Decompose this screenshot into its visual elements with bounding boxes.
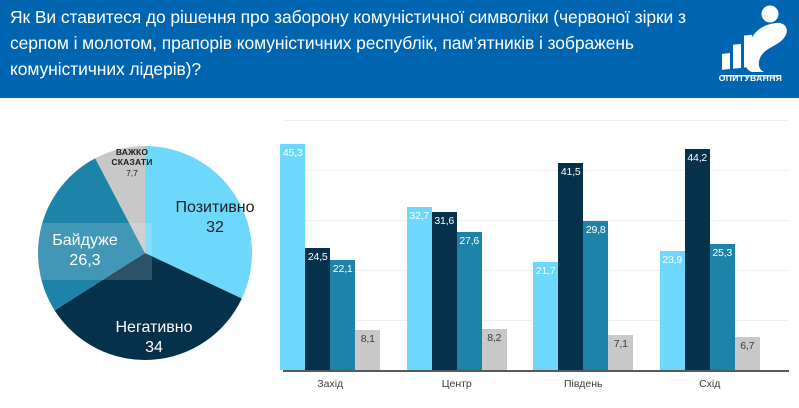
- pie-slice-name-hard-to-say: ВАЖКО СКАЗАТИ: [96, 148, 168, 168]
- bar: 6,7: [735, 337, 760, 371]
- bar: 21,7: [533, 262, 558, 371]
- bar: 7,1: [608, 335, 633, 371]
- bar: 31,6: [432, 212, 457, 370]
- bar-value-label: 8,1: [355, 333, 380, 345]
- bar: 44,2: [685, 149, 710, 370]
- page-header: Як Ви ставитеся до рішення про заборону …: [0, 0, 799, 98]
- bar-chart-axis: [283, 370, 789, 372]
- bar-group: 32,731,627,68,2: [407, 120, 507, 370]
- pie-slice-label-negative: Негативно 34: [90, 318, 218, 357]
- bar-value-label: 21,7: [533, 265, 558, 277]
- bar-group: 21,741,529,87,1: [533, 120, 633, 370]
- category-label: Південь: [523, 378, 643, 390]
- pie-slice-name-indifferent: Байдуже: [24, 231, 146, 251]
- category-label: Центр: [397, 378, 517, 390]
- bar-value-label: 22,1: [330, 263, 355, 275]
- pie-chart: Позитивно 32 Негативно 34 Байдуже 26,3 В…: [38, 113, 252, 395]
- bar-value-label: 29,8: [583, 224, 608, 236]
- pie-slice-value-positive: 32: [156, 218, 274, 238]
- bar: 23,9: [660, 251, 685, 371]
- bar: 22,1: [330, 260, 355, 371]
- bar-value-label: 6,7: [735, 340, 760, 352]
- pie-slice-label-hard-to-say: ВАЖКО СКАЗАТИ 7,7: [96, 148, 168, 178]
- bar-value-label: 44,2: [685, 152, 710, 164]
- bar: 8,1: [355, 330, 380, 371]
- category-label: Захід: [270, 378, 390, 390]
- bar: 24,5: [305, 248, 330, 371]
- bar-group: 45,324,522,18,1: [280, 120, 380, 370]
- bar: 27,6: [457, 232, 482, 370]
- bar-value-label: 32,7: [407, 210, 432, 222]
- bar-value-label: 45,3: [280, 147, 305, 159]
- pie-slice-label-indifferent: Байдуже 26,3: [18, 223, 152, 280]
- category-label: Схід: [650, 378, 770, 390]
- pie-slice-label-positive: Позитивно 32: [156, 198, 274, 237]
- bar: 32,7: [407, 207, 432, 371]
- bar: 25,3: [710, 244, 735, 371]
- pie-slice-name-negative: Негативно: [90, 318, 218, 338]
- bar-value-label: 7,1: [608, 338, 633, 350]
- page-title: Як Ви ставитеся до рішення про заборону …: [10, 4, 700, 82]
- bar-group: 23,944,225,36,7: [660, 120, 760, 370]
- bar: 29,8: [583, 221, 608, 370]
- pie-slice-value-negative: 34: [90, 338, 218, 358]
- pie-slice-value-indifferent: 26,3: [24, 251, 146, 271]
- bar-chart: Захід45,324,522,18,1Центр32,731,627,68,2…: [283, 120, 789, 398]
- bar-value-label: 25,3: [710, 247, 735, 259]
- bar-value-label: 23,9: [660, 254, 685, 266]
- bar: 45,3: [280, 144, 305, 371]
- bar: 8,2: [482, 329, 507, 370]
- runner-bars-logo-icon: [702, 0, 799, 98]
- bar: 41,5: [558, 163, 583, 371]
- brand-logo: ОПИТУВАННЯ: [702, 0, 799, 98]
- logo-caption: ОПИТУВАННЯ: [702, 73, 799, 83]
- pie-slice-name-positive: Позитивно: [156, 198, 274, 218]
- bar-value-label: 31,6: [432, 215, 457, 227]
- bar-value-label: 8,2: [482, 332, 507, 344]
- bar-value-label: 41,5: [558, 166, 583, 178]
- bar-value-label: 27,6: [457, 235, 482, 247]
- bar-value-label: 24,5: [305, 251, 330, 263]
- bar-chart-plot-area: Захід45,324,522,18,1Центр32,731,627,68,2…: [283, 120, 789, 370]
- pie-slice-value-hard-to-say: 7,7: [96, 168, 168, 178]
